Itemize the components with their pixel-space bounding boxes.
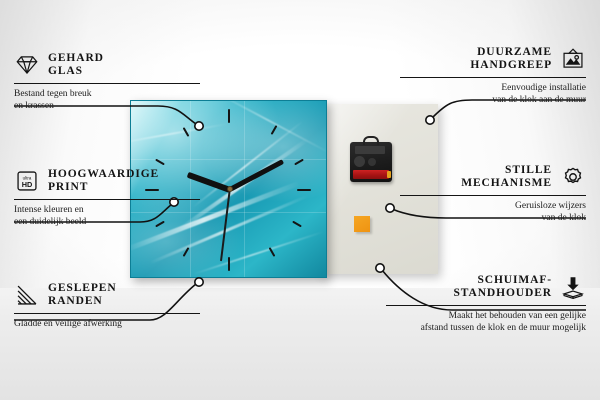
feature-desc-line1: Maakt het behouden van een gelijke (386, 311, 586, 323)
battery (353, 170, 389, 179)
picture-frame-hanger-icon (560, 47, 586, 71)
feature-title-line2: HANDGREEP (470, 59, 552, 72)
feature-desc-line1: Eenvoudige installatie (400, 83, 586, 95)
feature-duurzame-handgreep[interactable]: DUURZAME HANDGREEP Eenvoudige installati… (400, 46, 586, 106)
feature-desc-line1: Geruisloze wijzers (400, 201, 586, 213)
feature-title-line1: GEHARD (48, 52, 104, 65)
ultra-hd-icon: ultra HD (14, 169, 40, 193)
feature-desc-line2: van de klok (400, 213, 586, 225)
battery-tip (387, 171, 391, 178)
mechanism-knob-small (368, 158, 376, 166)
clock-mechanism (350, 142, 392, 182)
feature-title-line1: GESLEPEN (48, 282, 117, 295)
feature-desc-line2: en krassen (14, 101, 200, 113)
feature-title-line2: GLAS (48, 65, 104, 78)
beveled-edge-icon (14, 283, 40, 307)
divider (400, 195, 586, 196)
press-down-pad-icon (560, 275, 586, 299)
tick-6 (228, 257, 230, 271)
feature-title-line2: STANDHOUDER (453, 287, 552, 300)
divider (14, 199, 200, 200)
foam-spacer-pad (354, 216, 370, 232)
feature-gehard-glas[interactable]: GEHARD GLAS Bestand tegen breuk en krass… (14, 52, 200, 112)
feature-title-line2: PRINT (48, 181, 159, 194)
mechanism-knob (354, 156, 365, 167)
feature-title-line1: SCHUIMAF- (453, 274, 552, 287)
feature-desc-line2: een duidelijk beeld (14, 217, 200, 229)
diamond-icon (14, 53, 40, 77)
wall-hook-icon (363, 136, 379, 145)
divider (386, 305, 586, 306)
feature-header: SCHUIMAF- STANDHOUDER (386, 274, 586, 300)
divider (14, 313, 200, 314)
feature-desc-line2: van de klok aan de muur (400, 95, 586, 107)
feature-header: GEHARD GLAS (14, 52, 200, 78)
mechanism-slot (355, 146, 385, 154)
tick-3 (297, 189, 311, 191)
hands-center-cap (227, 186, 233, 192)
feature-header: STILLE MECHANISME (400, 164, 586, 190)
feature-desc-line1: Gladde en veilige afwerking (14, 319, 200, 331)
feature-title-line1: DUURZAME (470, 46, 552, 59)
feature-desc-line1: Bestand tegen breuk (14, 89, 200, 101)
feature-desc-line2: afstand tussen de klok en de muur mogeli… (386, 323, 586, 335)
feature-header: DUURZAME HANDGREEP (400, 46, 586, 72)
gear-icon (560, 165, 586, 189)
feature-stille-mechanisme[interactable]: STILLE MECHANISME Geruisloze wijzers van… (400, 164, 586, 224)
feature-title-line1: STILLE (461, 164, 552, 177)
svg-text:HD: HD (22, 180, 33, 189)
feature-title-line1: HOOGWAARDIGE (48, 168, 159, 181)
divider (14, 83, 200, 84)
feature-schuimafstandhouder[interactable]: SCHUIMAF- STANDHOUDER Maakt het behouden… (386, 274, 586, 334)
feature-title-line2: MECHANISME (461, 177, 552, 190)
feature-desc-line1: Intense kleuren en (14, 205, 200, 217)
feature-title-line2: RANDEN (48, 295, 117, 308)
feature-geslepen-randen[interactable]: GESLEPEN RANDEN Gladde en veilige afwerk… (14, 282, 200, 331)
feature-header: GESLEPEN RANDEN (14, 282, 200, 308)
divider (400, 77, 586, 78)
tick-12 (228, 109, 230, 123)
feature-hoogwaardige-print[interactable]: ultra HD HOOGWAARDIGE PRINT Intense kleu… (14, 168, 200, 228)
feature-header: ultra HD HOOGWAARDIGE PRINT (14, 168, 200, 194)
infographic-canvas: GEHARD GLAS Bestand tegen breuk en krass… (0, 0, 600, 400)
